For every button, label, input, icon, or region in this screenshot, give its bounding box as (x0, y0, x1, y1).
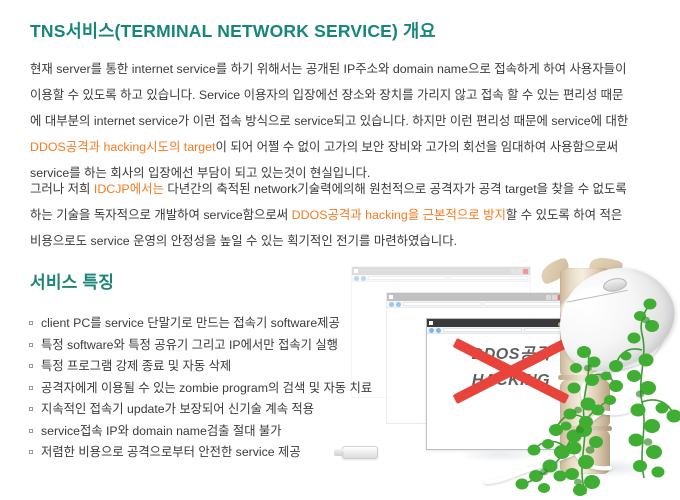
text-run: 그러나 저희 (30, 182, 94, 196)
feature-label: 공격자에게 이용될 수 있는 zombie program의 검색 및 자동 치… (41, 381, 372, 395)
minimize-icon (511, 269, 516, 274)
bullet-square-icon (29, 429, 33, 433)
highlighted-text: DDOS공격과 hacking시도의 target (30, 140, 215, 154)
security-illustration: DDOS공격 HACKING (340, 262, 680, 500)
feature-list-item: 특정 software와 특정 공유기 그리고 IP에서만 접속기 실행 (28, 335, 372, 357)
text-run: 비용으로도 service 운영의 안정성을 높일 수 있는 획기적인 전기를 … (30, 234, 457, 248)
bullet-square-icon (29, 343, 33, 347)
feature-label: client PC를 service 단말기로 만드는 접속기 software… (41, 316, 340, 330)
bamboo-segment (560, 430, 610, 474)
bullet-square-icon (29, 364, 33, 368)
intro-paragraph-2: 그러나 저희 IDCJP에서는 다년간의 축적된 network기술력에의해 원… (30, 176, 658, 254)
feature-label: 저렴한 비용으로 공격으로부터 안전한 service 제공 (41, 445, 301, 459)
feature-list-item: 저렴한 비용으로 공격으로부터 안전한 service 제공 (28, 442, 372, 464)
section-title-service-features: 서비스 특징 (30, 268, 114, 293)
blocked-attack-stamp: DDOS공격 HACKING (452, 340, 570, 402)
close-icon (523, 269, 528, 274)
text-run: 이용할 수 있도록 하고 있습니다. Service 이용자의 입장에선 장소와… (30, 88, 623, 102)
ground-shadow-secondary (458, 448, 544, 462)
bullet-square-icon (29, 450, 33, 454)
back-arrow-icon (429, 328, 434, 333)
paragraph-line: 비용으로도 service 운영의 안정성을 높일 수 있는 획기적인 전기를 … (30, 228, 658, 254)
window-titlebar (387, 293, 565, 301)
bullet-square-icon (29, 321, 33, 325)
highlighted-text: DDOS공격과 hacking을 근본적으로 방지 (292, 208, 506, 222)
feature-label: service접속 IP와 domain name검출 절대 불가 (41, 424, 282, 438)
red-cross-icon (452, 340, 570, 402)
service-feature-list: client PC를 service 단말기로 만드는 접속기 software… (28, 313, 372, 464)
paragraph-line: 하는 기술을 독자적으로 개발하여 service함으로써 DDOS공격과 ha… (30, 202, 658, 228)
feature-label: 지속적인 접속기 update가 보장되어 신기술 계속 적용 (41, 402, 314, 416)
paragraph-line: 현재 server를 통한 internet service를 하기 위해서는 … (30, 56, 658, 82)
window-app-icon (429, 321, 433, 325)
bullet-square-icon (29, 386, 33, 390)
window-app-icon (389, 295, 393, 299)
forward-arrow-icon (361, 276, 366, 281)
forward-arrow-icon (396, 302, 401, 307)
feature-label: 특정 software와 특정 공유기 그리고 IP에서만 접속기 실행 (41, 338, 338, 352)
paragraph-line: DDOS공격과 hacking시도의 target이 되어 어쩔 수 없이 고가… (30, 134, 658, 160)
feature-list-item: 공격자에게 이용될 수 있는 zombie program의 검색 및 자동 치… (28, 378, 372, 400)
address-bar (403, 302, 482, 306)
page-root: TNS서비스(TERMINAL NETWORK SERVICE) 개요 현재 s… (0, 0, 680, 500)
window-toolbar (387, 301, 565, 308)
text-run: 에 대부분의 internet service가 이런 접속 방식으로 serv… (30, 114, 628, 128)
intro-paragraph-1: 현재 server를 통한 internet service를 하기 위해서는 … (30, 56, 658, 186)
address-bar (443, 328, 522, 332)
feature-label: 특정 프로그램 강제 종료 및 자동 삭제 (41, 359, 231, 373)
paragraph-line: 이용할 수 있도록 하고 있습니다. Service 이용자의 입장에선 장소와… (30, 82, 658, 108)
window-titlebar (352, 267, 530, 275)
text-run: 할 수 있도록 하여 적은 (506, 208, 622, 222)
feature-list-item: service접속 IP와 domain name검출 절대 불가 (28, 421, 372, 443)
text-run: 다년간의 축적된 network기술력에의해 원천적으로 공격자가 공격 tar… (164, 182, 627, 196)
address-bar (368, 276, 447, 280)
text-run: 이 되어 어쩔 수 없이 고가의 보안 장비와 고가의 회선을 임대하여 사용함… (215, 140, 618, 154)
page-title: TNS서비스(TERMINAL NETWORK SERVICE) 개요 (30, 18, 436, 43)
bullet-square-icon (29, 407, 33, 411)
text-run: 하는 기술을 독자적으로 개발하여 service함으로써 (30, 208, 292, 222)
feature-list-item: 지속적인 접속기 update가 보장되어 신기술 계속 적용 (28, 399, 372, 421)
window-app-icon (354, 269, 358, 273)
feature-list-item: client PC를 service 단말기로 만드는 접속기 software… (28, 313, 372, 335)
feature-list-item: 특정 프로그램 강제 종료 및 자동 삭제 (28, 356, 372, 378)
text-run: 현재 server를 통한 internet service를 하기 위해서는 … (30, 62, 626, 76)
back-arrow-icon (354, 276, 359, 281)
forward-arrow-icon (436, 328, 441, 333)
paragraph-line: 에 대부분의 internet service가 이런 접속 방식으로 serv… (30, 108, 658, 134)
maximize-icon (517, 269, 522, 274)
highlighted-text: IDCJP에서는 (94, 182, 164, 196)
search-bar (449, 276, 528, 280)
window-toolbar (352, 275, 530, 282)
paragraph-line: 그러나 저희 IDCJP에서는 다년간의 축적된 network기술력에의해 원… (30, 176, 658, 202)
back-arrow-icon (389, 302, 394, 307)
